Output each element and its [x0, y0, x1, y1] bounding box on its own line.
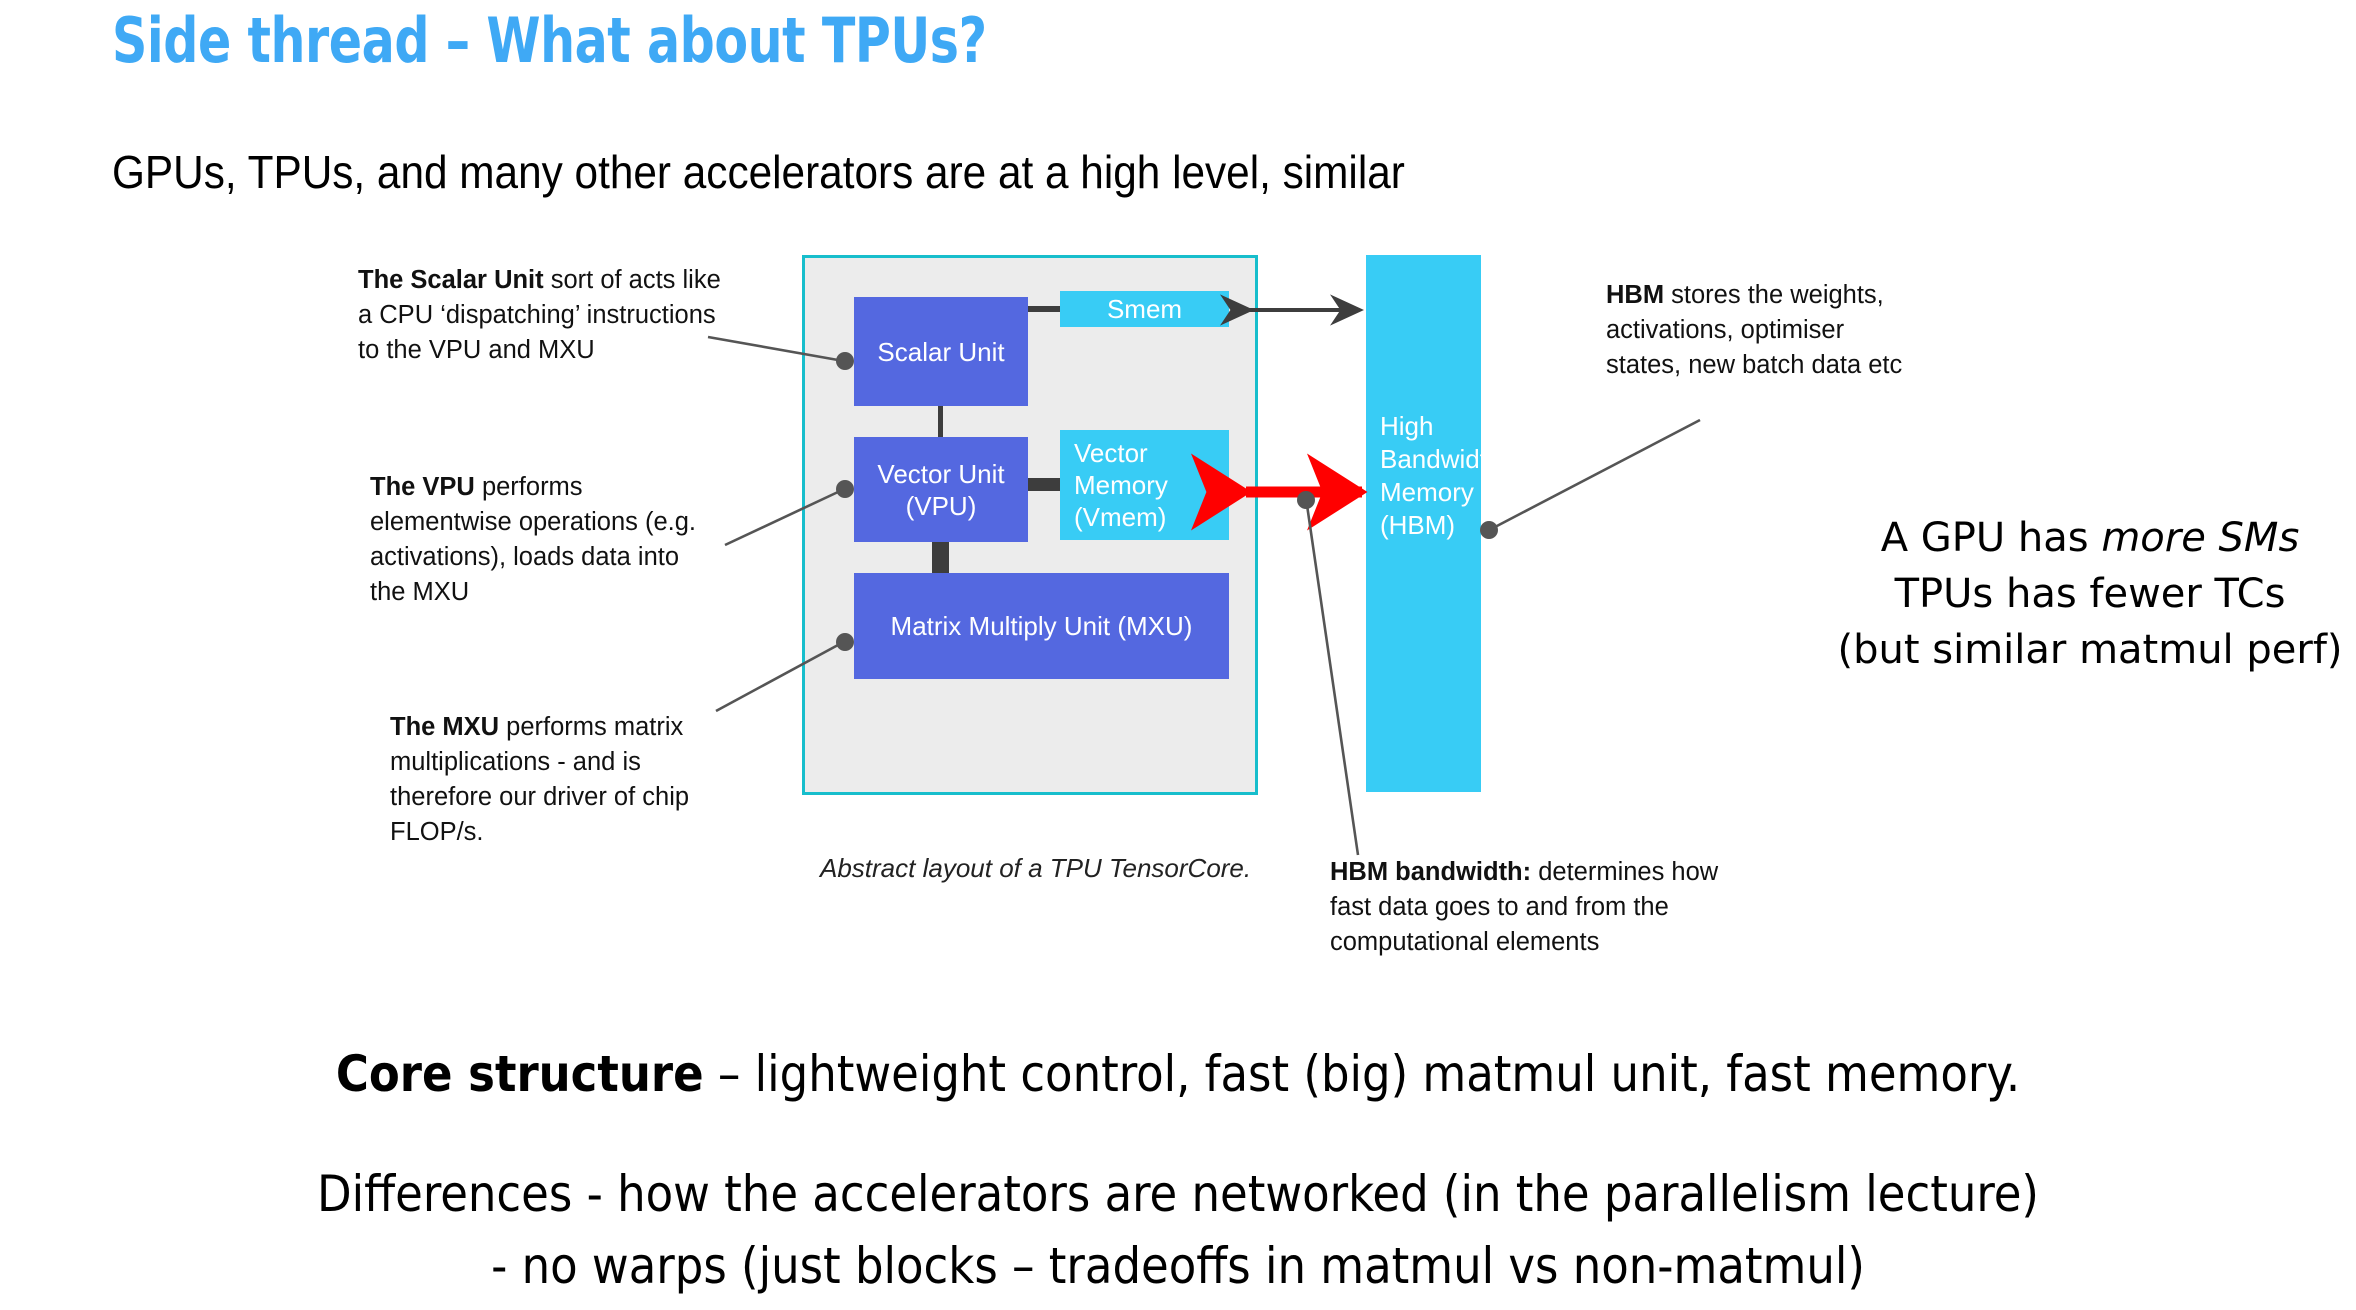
block-vector-memory-label: Vector Memory (Vmem) — [1074, 437, 1168, 533]
block-vector-memory[interactable]: Vector Memory (Vmem) — [1060, 430, 1229, 540]
anno-vpu-bold: The VPU — [370, 473, 475, 501]
leader-line-hbm-stores — [1480, 420, 1700, 539]
connector-vpu-vmem — [1028, 478, 1062, 491]
anno-hbm-stores-bold: HBM — [1606, 281, 1664, 309]
block-matrix-multiply-unit[interactable]: Matrix Multiply Unit (MXU) — [854, 573, 1229, 679]
block-hbm-label: High Bandwidth Memory (HBM) — [1380, 411, 1501, 540]
block-smem-label: Smem — [1107, 293, 1182, 325]
block-high-bandwidth-memory[interactable]: High Bandwidth Memory (HBM) — [1366, 255, 1481, 792]
anno-mxu-bold: The MXU — [390, 713, 499, 741]
bottom-line-differences: Differences - how the accelerators are n… — [0, 1165, 2356, 1223]
gpu-note-line3: (but similar matmul perf) — [1830, 622, 2350, 678]
block-vector-unit[interactable]: Vector Unit (VPU) — [854, 437, 1028, 542]
annotation-hbm-bandwidth: HBM bandwidth: determines how fast data … — [1330, 855, 1740, 960]
annotation-vpu: The VPU performs elementwise operations … — [370, 470, 700, 610]
slide-root: Side thread – What about TPUs? GPUs, TPU… — [0, 0, 2356, 1310]
annotation-hbm-stores: HBM stores the weights, activations, opt… — [1606, 278, 1906, 383]
gpu-note-line1-pre: A GPU has — [1881, 515, 2102, 561]
bottom-line1-rest: – lightweight control, fast (big) matmul… — [704, 1045, 2021, 1103]
page-title: Side thread – What about TPUs? — [112, 4, 987, 77]
gpu-note-line1: A GPU has more SMs — [1830, 510, 2350, 566]
anno-hbm-bw-bold: HBM bandwidth: — [1330, 858, 1531, 886]
bottom-line-core-structure: Core structure – lightweight control, fa… — [0, 1045, 2356, 1103]
gpu-comparison-note: A GPU has more SMs TPUs has fewer TCs (b… — [1830, 510, 2350, 678]
block-scalar-unit-label: Scalar Unit — [877, 336, 1004, 368]
annotation-scalar-unit: The Scalar Unit sort of acts like a CPU … — [358, 263, 738, 368]
connector-scalar-vpu — [938, 406, 943, 438]
anno-scalar-bold: The Scalar Unit — [358, 266, 544, 294]
bottom-line-no-warps: - no warps (just blocks – tradeoffs in m… — [0, 1237, 2356, 1295]
diagram-caption: Abstract layout of a TPU TensorCore. — [820, 853, 1251, 884]
gpu-note-line2: TPUs has fewer TCs — [1830, 566, 2350, 622]
connector-vpu-mxu — [932, 542, 949, 574]
gpu-note-line1-em: more SMs — [2101, 515, 2299, 561]
block-scalar-unit[interactable]: Scalar Unit — [854, 297, 1028, 406]
block-mxu-label: Matrix Multiply Unit (MXU) — [891, 610, 1193, 642]
connector-scalar-smem — [1028, 306, 1062, 312]
slide-subtitle: GPUs, TPUs, and many other accelerators … — [112, 145, 1405, 199]
annotation-mxu: The MXU performs matrix multiplications … — [390, 710, 700, 850]
bottom-line1-bold: Core structure — [336, 1045, 704, 1103]
block-vector-unit-label: Vector Unit (VPU) — [877, 458, 1004, 522]
leader-line-hbm-bandwidth — [1297, 491, 1358, 855]
block-smem[interactable]: Smem — [1060, 291, 1229, 327]
